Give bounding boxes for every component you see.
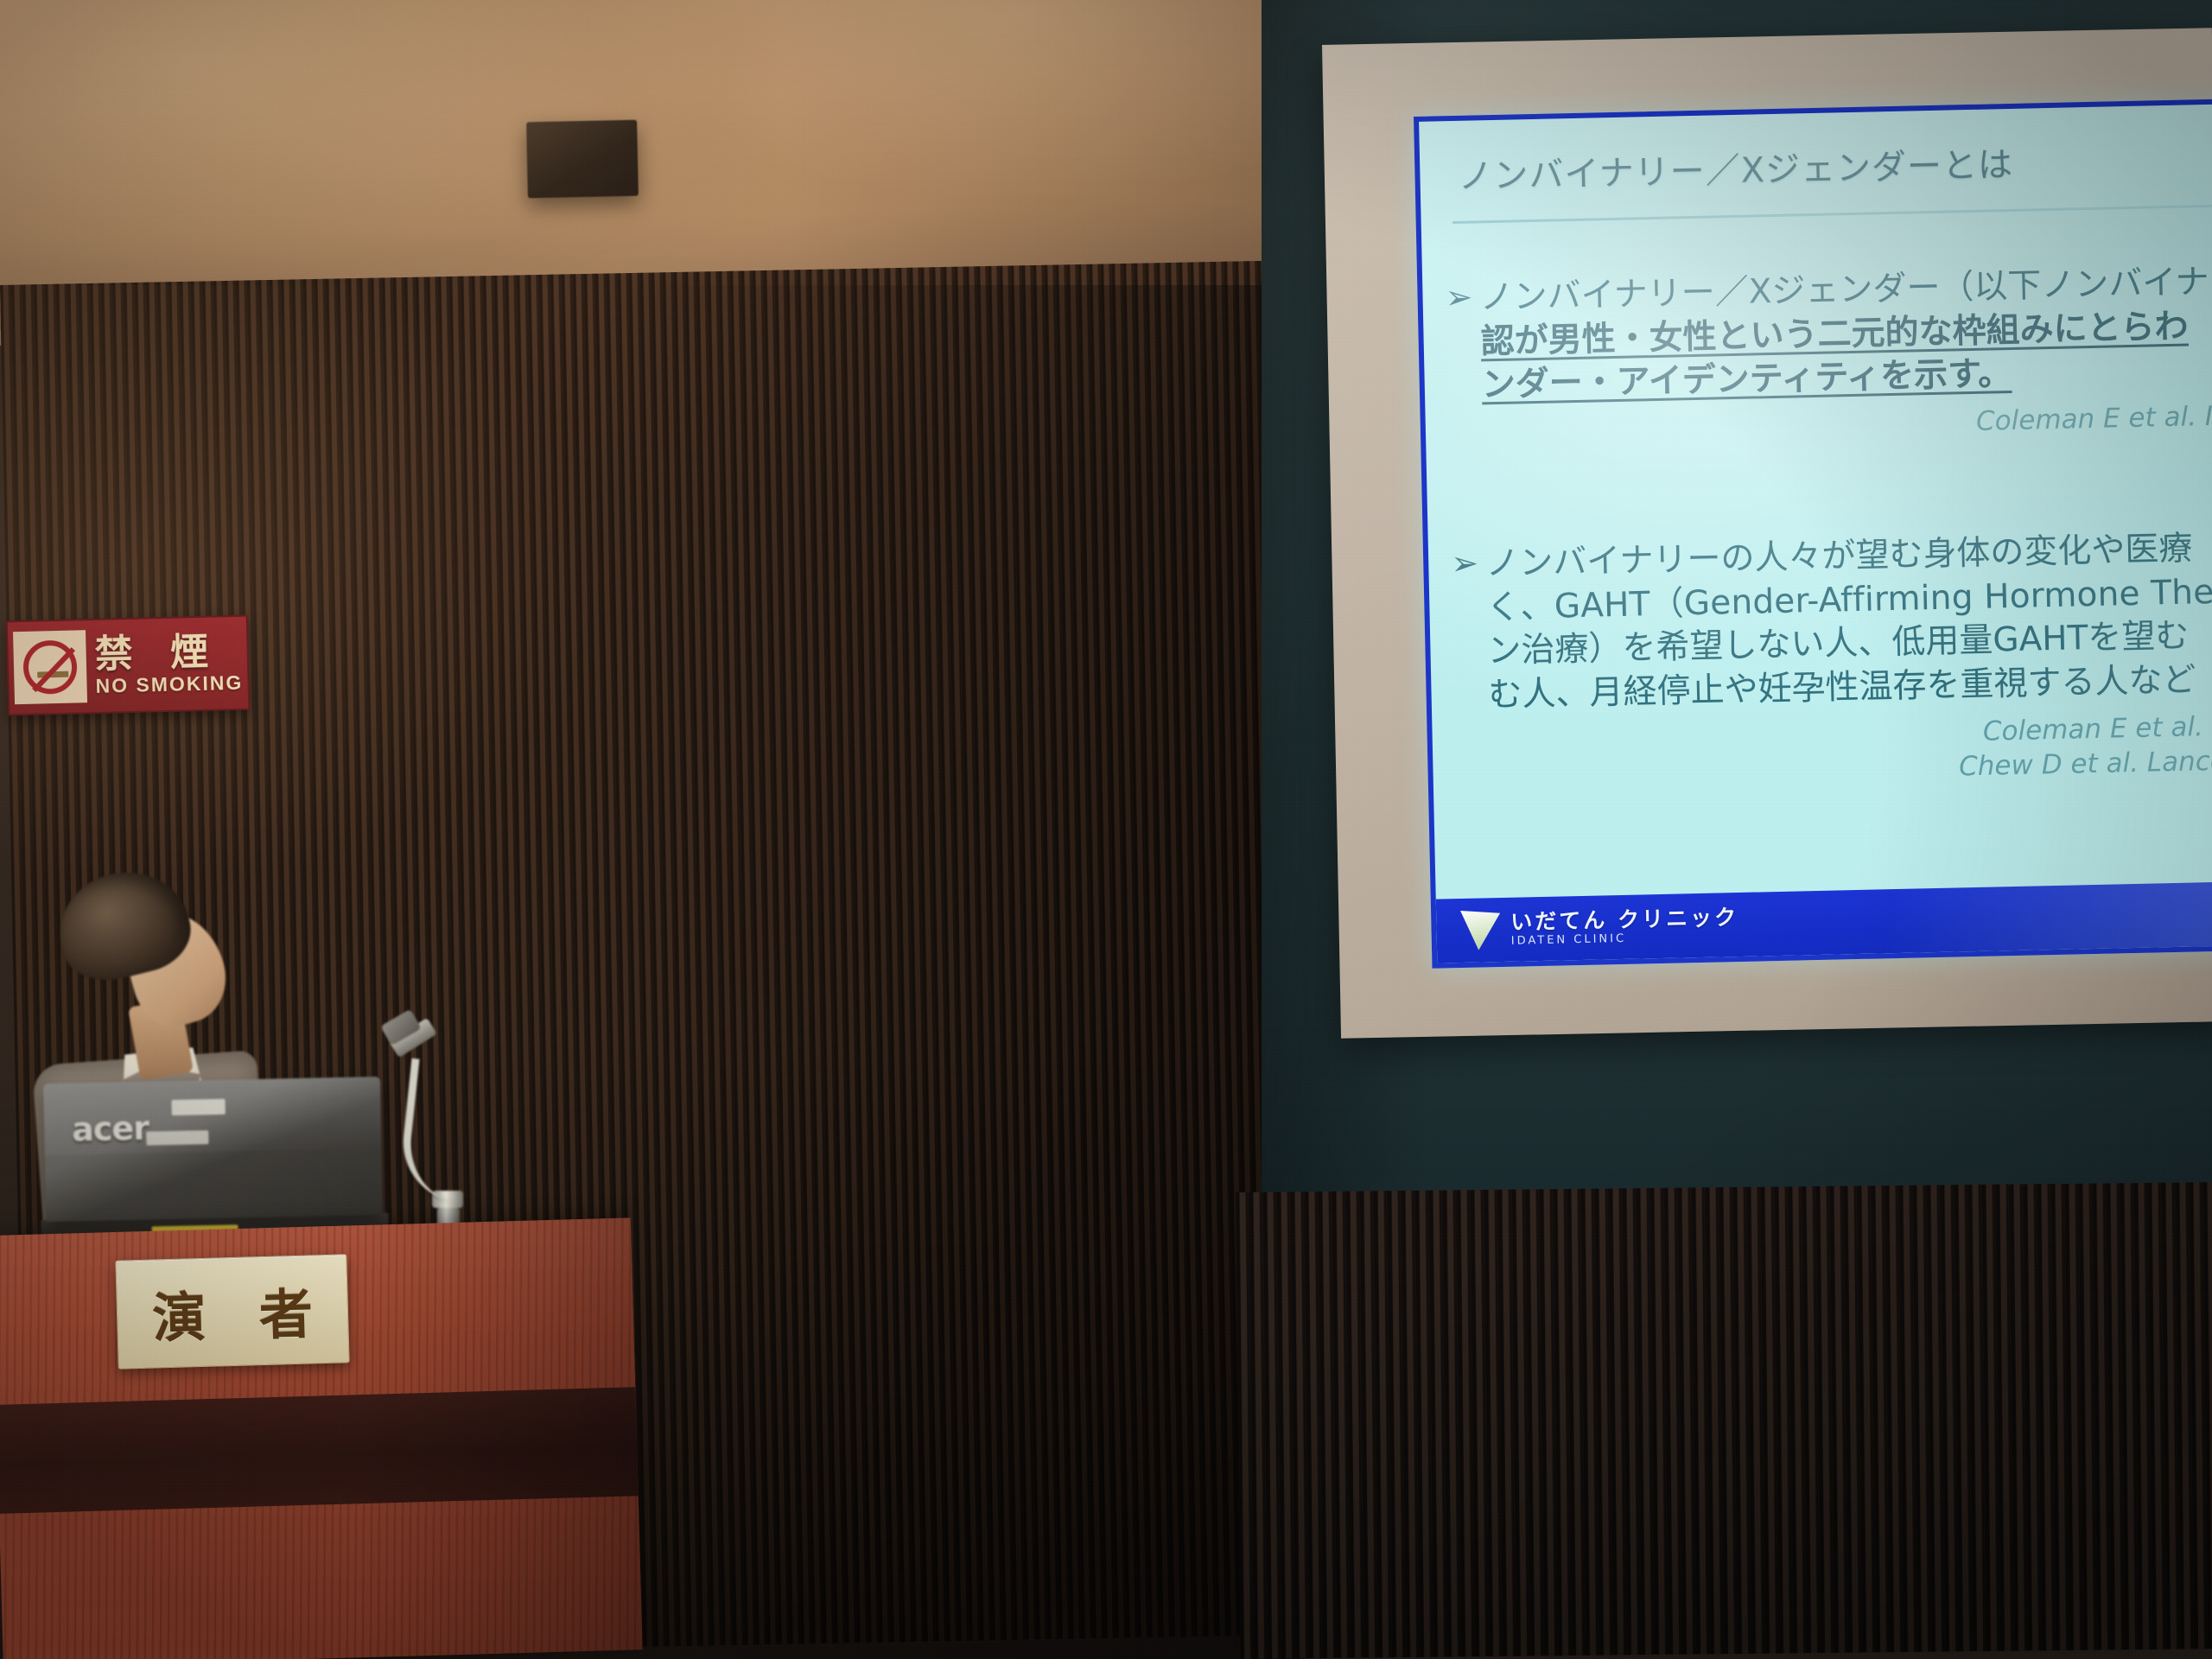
laptop: acer bbox=[43, 1077, 384, 1248]
clinic-logo-name-jp: いだてん クリニック bbox=[1510, 906, 1738, 934]
presentation-photo-scene: 禁 煙 NO SMOKING acer 演 bbox=[0, 0, 2212, 1659]
wood-panel-wall-right bbox=[1236, 1182, 2212, 1659]
no-smoking-label-jp: 禁 煙 bbox=[94, 632, 247, 674]
laptop-sticker-bottom bbox=[146, 1130, 208, 1146]
clinic-logo-icon bbox=[1460, 910, 1501, 950]
acer-logo: acer bbox=[72, 1109, 149, 1149]
podium-nameplate-label: 演 者 bbox=[134, 1270, 331, 1353]
no-smoking-label-en: NO SMOKING bbox=[95, 673, 248, 696]
bullet-arrow-icon: ➢ bbox=[1445, 276, 1480, 315]
bullet-arrow-icon: ➢ bbox=[1451, 543, 1486, 582]
clinic-logo-name-en: IDATEN CLINIC bbox=[1511, 931, 1739, 947]
slide-bullet-2: ➢ ノンバイナリーの人々が望む身体の変化や医療 く、GAHT（Gender-Af… bbox=[1428, 526, 2212, 794]
podium-nameplate: 演 者 bbox=[115, 1254, 349, 1369]
laptop-lid: acer bbox=[43, 1077, 383, 1222]
microphone-gooseneck bbox=[397, 1058, 472, 1202]
laptop-sticker-top bbox=[171, 1099, 225, 1116]
no-smoking-icon bbox=[13, 630, 87, 704]
no-smoking-sign: 禁 煙 NO SMOKING bbox=[6, 615, 251, 716]
wall-fixture-icon bbox=[526, 120, 639, 199]
projected-slide: ノンバイナリー／Xジェンダーとは ➢ ノンバイナリー／Xジェンダー（以下ノンバイ… bbox=[1414, 99, 2212, 969]
slide-title: ノンバイナリー／Xジェンダーとは bbox=[1420, 126, 2212, 200]
slide-title-divider bbox=[1452, 205, 2212, 224]
slide-content: ノンバイナリー／Xジェンダーとは ➢ ノンバイナリー／Xジェンダー（以下ノンバイ… bbox=[1419, 104, 2212, 963]
bullet-1-citation-1: Coleman E et al. Int J bbox=[1483, 400, 2212, 448]
slide-bullet-1: ➢ ノンバイナリー／Xジェンダー（以下ノンバイナ 認が男性・女性という二元的な枠… bbox=[1422, 260, 2212, 449]
